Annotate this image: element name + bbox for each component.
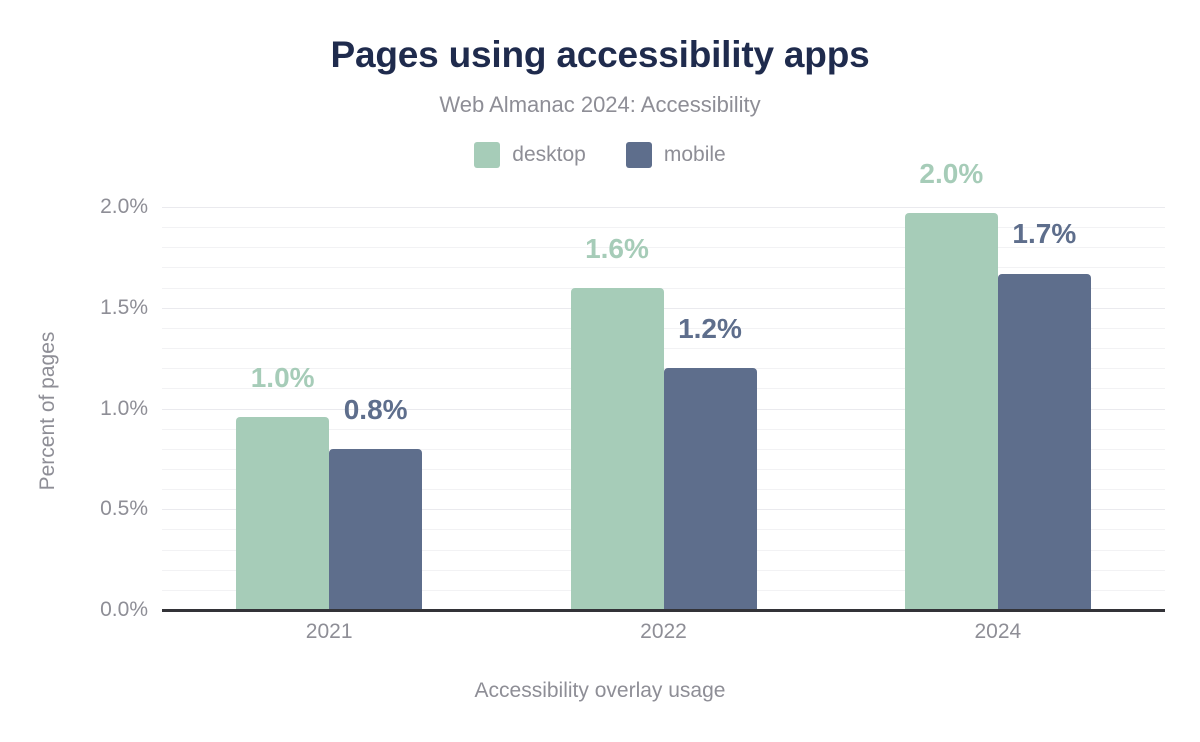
bar-mobile-2024[interactable] xyxy=(998,274,1091,611)
x-tick-label-2024: 2024 xyxy=(898,619,1098,645)
bar-value-label-desktop-2021: 1.0% xyxy=(203,361,363,395)
bar-mobile-2022[interactable] xyxy=(664,368,757,610)
y-tick-label: 1.5% xyxy=(8,297,148,318)
bar-value-label-desktop-2024: 2.0% xyxy=(871,157,1031,191)
plot-area: 1.0%0.8%1.6%1.2%2.0%1.7% xyxy=(162,207,1165,610)
x-axis-line xyxy=(162,609,1165,612)
bar-mobile-2021[interactable] xyxy=(329,449,422,610)
legend-item-mobile[interactable]: mobile xyxy=(626,142,726,168)
bar-desktop-2021[interactable] xyxy=(236,417,329,610)
chart-subtitle: Web Almanac 2024: Accessibility xyxy=(0,90,1200,120)
bar-value-label-mobile-2022: 1.2% xyxy=(630,312,790,346)
y-tick-label: 2.0% xyxy=(8,196,148,217)
y-axis-title: Percent of pages xyxy=(36,291,60,531)
legend-swatch-mobile xyxy=(626,142,652,168)
legend-swatch-desktop xyxy=(474,142,500,168)
bar-value-label-mobile-2024: 1.7% xyxy=(964,217,1124,251)
chart-title: Pages using accessibility apps xyxy=(0,32,1200,78)
legend-label-mobile: mobile xyxy=(664,142,726,168)
y-tick-label: 0.0% xyxy=(8,599,148,620)
bar-value-label-desktop-2022: 1.6% xyxy=(537,232,697,266)
bar-chart: Pages using accessibility apps Web Alman… xyxy=(0,0,1200,742)
legend-item-desktop[interactable]: desktop xyxy=(474,142,586,168)
x-tick-label-2021: 2021 xyxy=(229,619,429,645)
x-tick-label-2022: 2022 xyxy=(564,619,764,645)
bar-desktop-2024[interactable] xyxy=(905,213,998,610)
gridline-major xyxy=(162,207,1165,208)
bar-value-label-mobile-2021: 0.8% xyxy=(296,393,456,427)
legend-label-desktop: desktop xyxy=(512,142,586,168)
y-tick-label: 1.0% xyxy=(8,398,148,419)
gridline-minor xyxy=(162,267,1165,268)
y-tick-label: 0.5% xyxy=(8,498,148,519)
x-axis-title: Accessibility overlay usage xyxy=(0,678,1200,704)
